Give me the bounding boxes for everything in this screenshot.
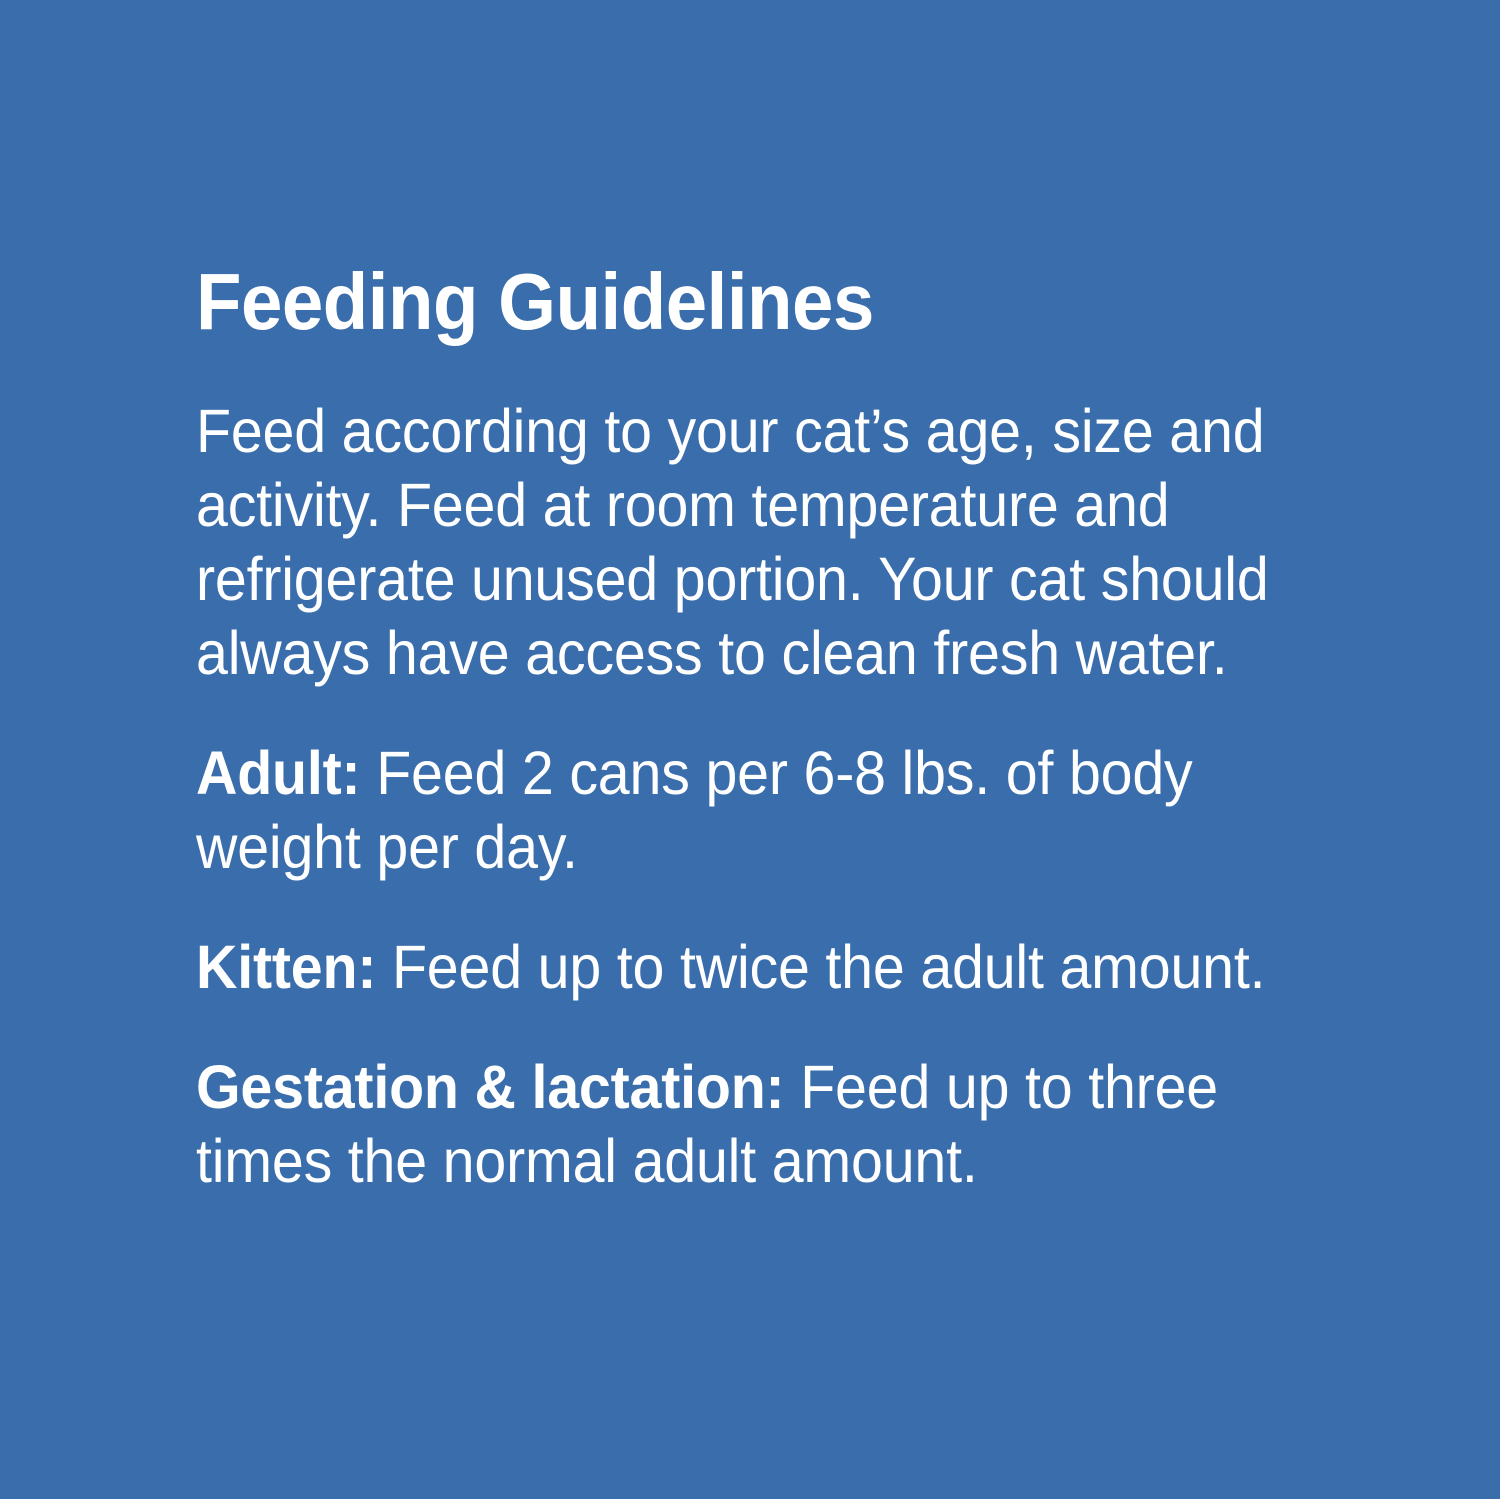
- feeding-guidelines-panel: Feeding Guidelines Feed according to you…: [0, 0, 1500, 1499]
- guideline-kitten: Kitten: Feed up to twice the adult amoun…: [196, 930, 1315, 1004]
- guideline-gestation-lactation: Gestation & lactation: Feed up to three …: [196, 1050, 1315, 1198]
- page-title: Feeding Guidelines: [196, 262, 1242, 342]
- guideline-adult-label: Adult:: [196, 739, 360, 807]
- guideline-kitten-label: Kitten:: [196, 933, 376, 1001]
- guideline-adult: Adult: Feed 2 cans per 6-8 lbs. of body …: [196, 736, 1315, 884]
- content-block: Feeding Guidelines Feed according to you…: [196, 262, 1321, 1198]
- guideline-gestation-lactation-label: Gestation & lactation:: [196, 1053, 784, 1121]
- guideline-kitten-text: Feed up to twice the adult amount.: [376, 933, 1265, 1001]
- intro-paragraph: Feed according to your cat’s age, size a…: [196, 394, 1315, 690]
